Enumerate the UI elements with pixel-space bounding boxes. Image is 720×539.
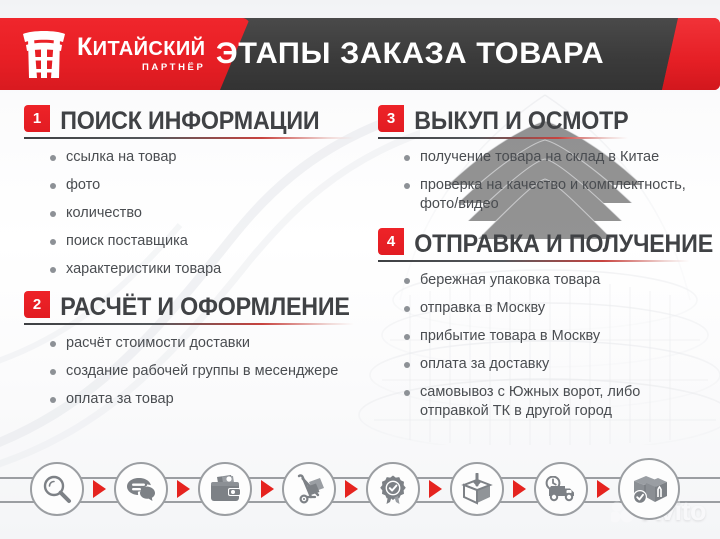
step-icon-magnifier[interactable] [30, 462, 84, 516]
wallet-money-icon [209, 474, 241, 504]
step-icon-wallet[interactable] [198, 462, 252, 516]
step-icon-box-packing[interactable] [450, 462, 504, 516]
step-icon-parcel-check[interactable] [618, 458, 680, 520]
arrow-right-icon [168, 480, 198, 498]
section-4: 4 ОТПРАВКА И ПОЛУЧЕНИЕ бережная упаковка… [378, 228, 710, 421]
section-4-title: ОТПРАВКА И ПОЛУЧЕНИЕ [404, 231, 713, 258]
section-1-underline [24, 137, 354, 139]
section-1-list: ссылка на товар фото количество поиск по… [24, 148, 364, 279]
section-1-title: ПОИСК ИНФОРМАЦИИ [50, 108, 319, 135]
section-3-header: 3 ВЫКУП И ОСМОТР [378, 105, 710, 135]
poster-root: КИТАЙСКИЙ ПАРТНЁР ЭТАПЫ ЗАКАЗА ТОВАРА 1 … [0, 0, 720, 539]
section-1-header: 1 ПОИСК ИНФОРМАЦИИ [24, 105, 364, 135]
delivery-truck-clock-icon [545, 476, 577, 502]
section-3-underline [378, 137, 628, 139]
list-item: оплата за доставку [404, 355, 710, 374]
section-2-underline [24, 323, 354, 325]
section-4-list: бережная упаковка товара отправка в Моск… [378, 271, 710, 421]
chat-bubbles-icon [125, 474, 157, 504]
logo-title-first-letter: К [77, 33, 93, 61]
list-item: поиск поставщика [50, 232, 364, 251]
arrow-right-icon [84, 480, 114, 498]
step-icon-quality[interactable] [366, 462, 420, 516]
arrow-right-icon [336, 480, 366, 498]
list-item: прибытие товара в Москву [404, 327, 710, 346]
step-icon-delivery-truck[interactable] [534, 462, 588, 516]
column-left: 1 ПОИСК ИНФОРМАЦИИ ссылка на товар фото … [24, 105, 364, 418]
step-icon-hand-truck[interactable] [282, 462, 336, 516]
section-3: 3 ВЫКУП И ОСМОТР получение товара на скл… [378, 105, 710, 214]
section-2-header: 2 РАСЧЁТ И ОФОРМЛЕНИЕ [24, 291, 364, 321]
section-1: 1 ПОИСК ИНФОРМАЦИИ ссылка на товар фото … [24, 105, 364, 279]
arrow-right-icon [504, 480, 534, 498]
list-item: получение товара на склад в Китае [404, 148, 710, 167]
section-1-number: 1 [24, 105, 50, 132]
page-title: ЭТАПЫ ЗАКАЗА ТОВАРА [145, 18, 675, 90]
torii-gate-icon [20, 28, 68, 80]
list-item: фото [50, 176, 364, 195]
section-4-number: 4 [378, 228, 404, 255]
section-2: 2 РАСЧЁТ И ОФОРМЛЕНИЕ расчёт стоимости д… [24, 291, 364, 409]
section-3-list: получение товара на склад в Китае провер… [378, 148, 710, 214]
parcel-check-icon [630, 472, 668, 506]
section-3-title: ВЫКУП И ОСМОТР [404, 108, 628, 135]
section-2-list: расчёт стоимости доставки создание рабоч… [24, 334, 364, 409]
section-4-header: 4 ОТПРАВКА И ПОЛУЧЕНИЕ [378, 228, 710, 258]
hand-truck-icon [293, 473, 325, 505]
list-item: характеристики товара [50, 260, 364, 279]
list-item: отправка в Москву [404, 299, 710, 318]
header: КИТАЙСКИЙ ПАРТНЁР ЭТАПЫ ЗАКАЗА ТОВАРА [0, 18, 720, 90]
section-2-number: 2 [24, 291, 50, 318]
list-item: оплата за товар [50, 390, 364, 409]
list-item: бережная упаковка товара [404, 271, 710, 290]
step-icon-chat[interactable] [114, 462, 168, 516]
list-item: самовывоз с Южных ворот, либо отправкой … [404, 383, 710, 421]
quality-badge-icon [377, 473, 409, 505]
section-3-number: 3 [378, 105, 404, 132]
section-2-title: РАСЧЁТ И ОФОРМЛЕНИЕ [50, 294, 350, 321]
list-item: проверка на качество и комплектность, фо… [404, 176, 710, 214]
list-item: расчёт стоимости доставки [50, 334, 364, 353]
arrow-right-icon [588, 480, 618, 498]
list-item: создание рабочей группы в месенджере [50, 362, 364, 381]
magnifier-icon [41, 473, 73, 505]
list-item: количество [50, 204, 364, 223]
box-packing-icon [461, 473, 493, 505]
list-item: ссылка на товар [50, 148, 364, 167]
column-right: 3 ВЫКУП И ОСМОТР получение товара на скл… [378, 105, 710, 430]
arrow-right-icon [420, 480, 450, 498]
arrow-right-icon [252, 480, 282, 498]
process-strip [0, 439, 720, 539]
section-4-underline [378, 260, 690, 262]
